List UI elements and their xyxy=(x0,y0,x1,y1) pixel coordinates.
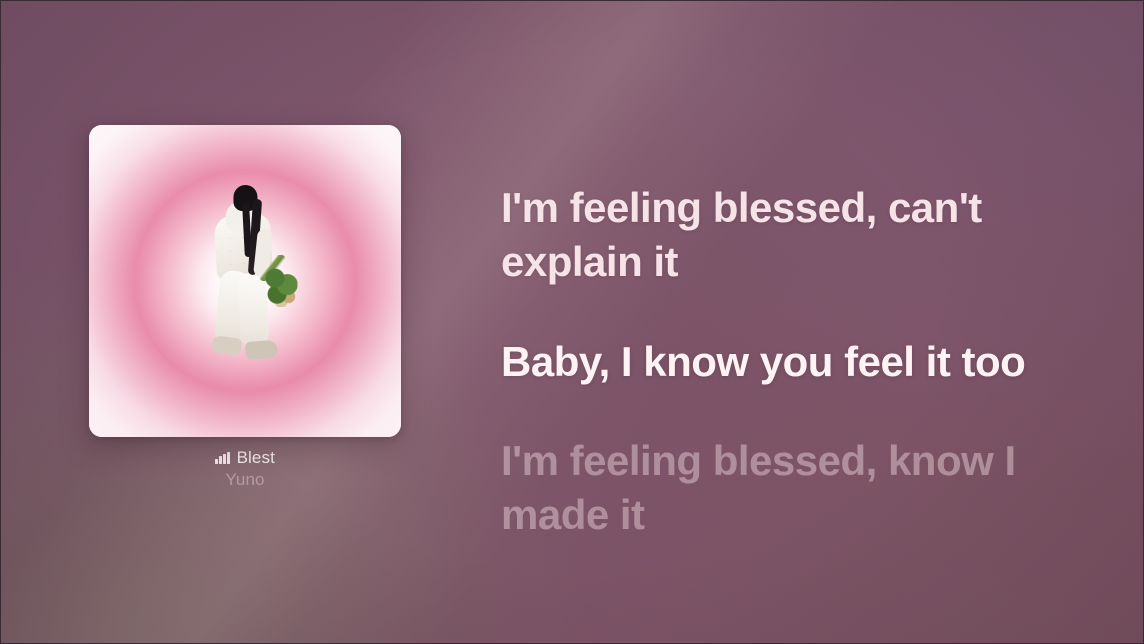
track-title-row: Blest xyxy=(89,449,401,466)
track-meta: Blest Yuno xyxy=(89,449,401,490)
now-playing-bars-icon xyxy=(215,452,230,464)
now-playing-screen: Blest Yuno I'm feeling blessed, can't ex… xyxy=(0,0,1144,644)
lyric-line[interactable]: I'm feeling blessed, know I made it xyxy=(501,434,1061,542)
figure-shoe-right xyxy=(245,340,278,360)
track-title: Blest xyxy=(237,449,275,466)
track-artist: Yuno xyxy=(89,470,401,490)
album-artwork[interactable] xyxy=(89,125,401,437)
figure-shoe-left xyxy=(210,335,242,356)
artwork-column: Blest Yuno xyxy=(89,125,401,490)
lyrics-panel: I'm feeling blessed, can't explain it Ba… xyxy=(501,181,1061,542)
lyric-line-active[interactable]: Baby, I know you feel it too xyxy=(501,335,1061,389)
figure-bouquet xyxy=(263,267,297,307)
lyric-line[interactable]: I'm feeling blessed, can't explain it xyxy=(501,181,1061,289)
artwork-figure xyxy=(193,185,305,373)
